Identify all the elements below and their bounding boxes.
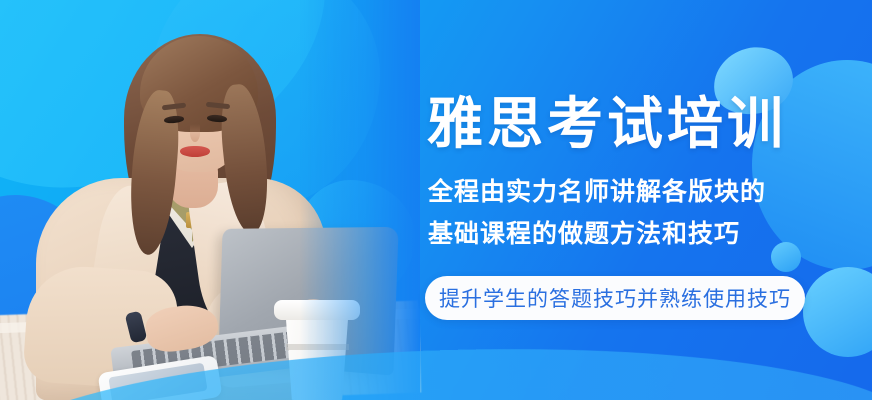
cta-pill-button[interactable]: 提升学生的答题技巧并熟练使用技巧 bbox=[425, 276, 805, 320]
banner-text-block: 雅思考试培训 全程由实力名师讲解各版块的 基础课程的做题方法和技巧 提升学生的答… bbox=[425, 0, 845, 400]
banner-subtitle-line-1: 全程由实力名师讲解各版块的 bbox=[428, 180, 766, 205]
nose bbox=[190, 124, 200, 142]
ielts-training-banner: 雅思考试培训 全程由实力名师讲解各版块的 基础课程的做题方法和技巧 提升学生的答… bbox=[0, 0, 872, 400]
lips bbox=[180, 146, 210, 157]
banner-subtitle-line-2: 基础课程的做题方法和技巧 bbox=[428, 222, 740, 247]
cta-pill-label: 提升学生的答题技巧并熟练使用技巧 bbox=[439, 283, 791, 313]
photo-gradient-fade bbox=[300, 0, 420, 400]
woman-laptop-photo bbox=[0, 0, 420, 400]
banner-headline: 雅思考试培训 bbox=[427, 96, 787, 152]
